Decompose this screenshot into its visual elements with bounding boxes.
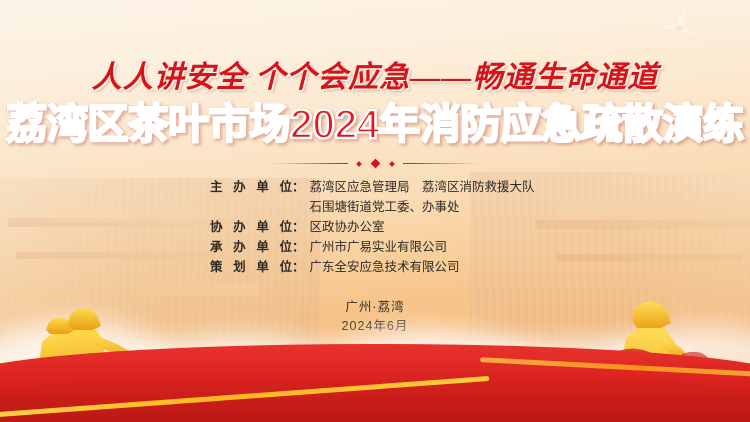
poster-canvas: 人人讲安全 个个会应急——畅通生命通道 荔湾区茶叶市场2024年消防应急疏散演练… (0, 0, 750, 422)
organizer-value: 区政协办公室 (310, 216, 385, 235)
organizer-row: 承办单位 ： 广州市广易实业有限公司 (210, 236, 540, 255)
organizer-row: 协办单位 ： 区政协办公室 (210, 216, 540, 235)
organizer-row-continuation: 主办单位 ： 石围塘街道党工委、办事处 (210, 196, 540, 215)
organizer-colon: ： (292, 216, 305, 235)
poster-main-title: 荔湾区茶叶市场2024年消防应急疏散演练 (0, 100, 750, 148)
organizer-colon: ： (292, 256, 305, 275)
organizer-colon: ： (292, 236, 305, 255)
organizer-colon: ： (292, 176, 305, 195)
organizer-value: 广州市广易实业有限公司 (310, 236, 448, 255)
divider-dot-right (389, 161, 395, 167)
divider-line-right (403, 163, 481, 165)
poster-slogan: 人人讲安全 个个会应急——畅通生命通道 (0, 52, 750, 96)
organizer-value-continued: 石围塘街道党工委、办事处 (310, 196, 460, 215)
organizer-row: 主办单位 ： 荔湾区应急管理局 荔湾区消防救援大队 (210, 176, 540, 195)
organizer-list: 主办单位 ： 荔湾区应急管理局 荔湾区消防救援大队 主办单位 ： 石围塘街道党工… (0, 176, 750, 275)
title-segment-1: 荔湾区茶叶市场2024年消防应急 (6, 101, 581, 147)
divider-diamond-icon (367, 156, 383, 172)
dove-icon (650, 8, 702, 42)
organizer-label: 承办单位 (210, 236, 292, 255)
divider-line-left (270, 163, 348, 165)
organizer-label: 策划单位 (210, 256, 292, 275)
title-segment-highlight: 疏散 (582, 101, 663, 147)
organizer-value: 广东全安应急技术有限公司 (310, 256, 460, 275)
organizer-value: 荔湾区应急管理局 荔湾区消防救援大队 (310, 176, 535, 195)
divider-dot-left (356, 161, 362, 167)
organizer-label: 协办单位 (210, 216, 292, 235)
divider-ornament (0, 158, 750, 169)
organizer-row: 策划单位 ： 广东全安应急技术有限公司 (210, 256, 540, 275)
title-segment-2: 演练 (663, 101, 744, 147)
organizer-label: 主办单位 (210, 176, 292, 195)
base-shadow (0, 372, 750, 422)
